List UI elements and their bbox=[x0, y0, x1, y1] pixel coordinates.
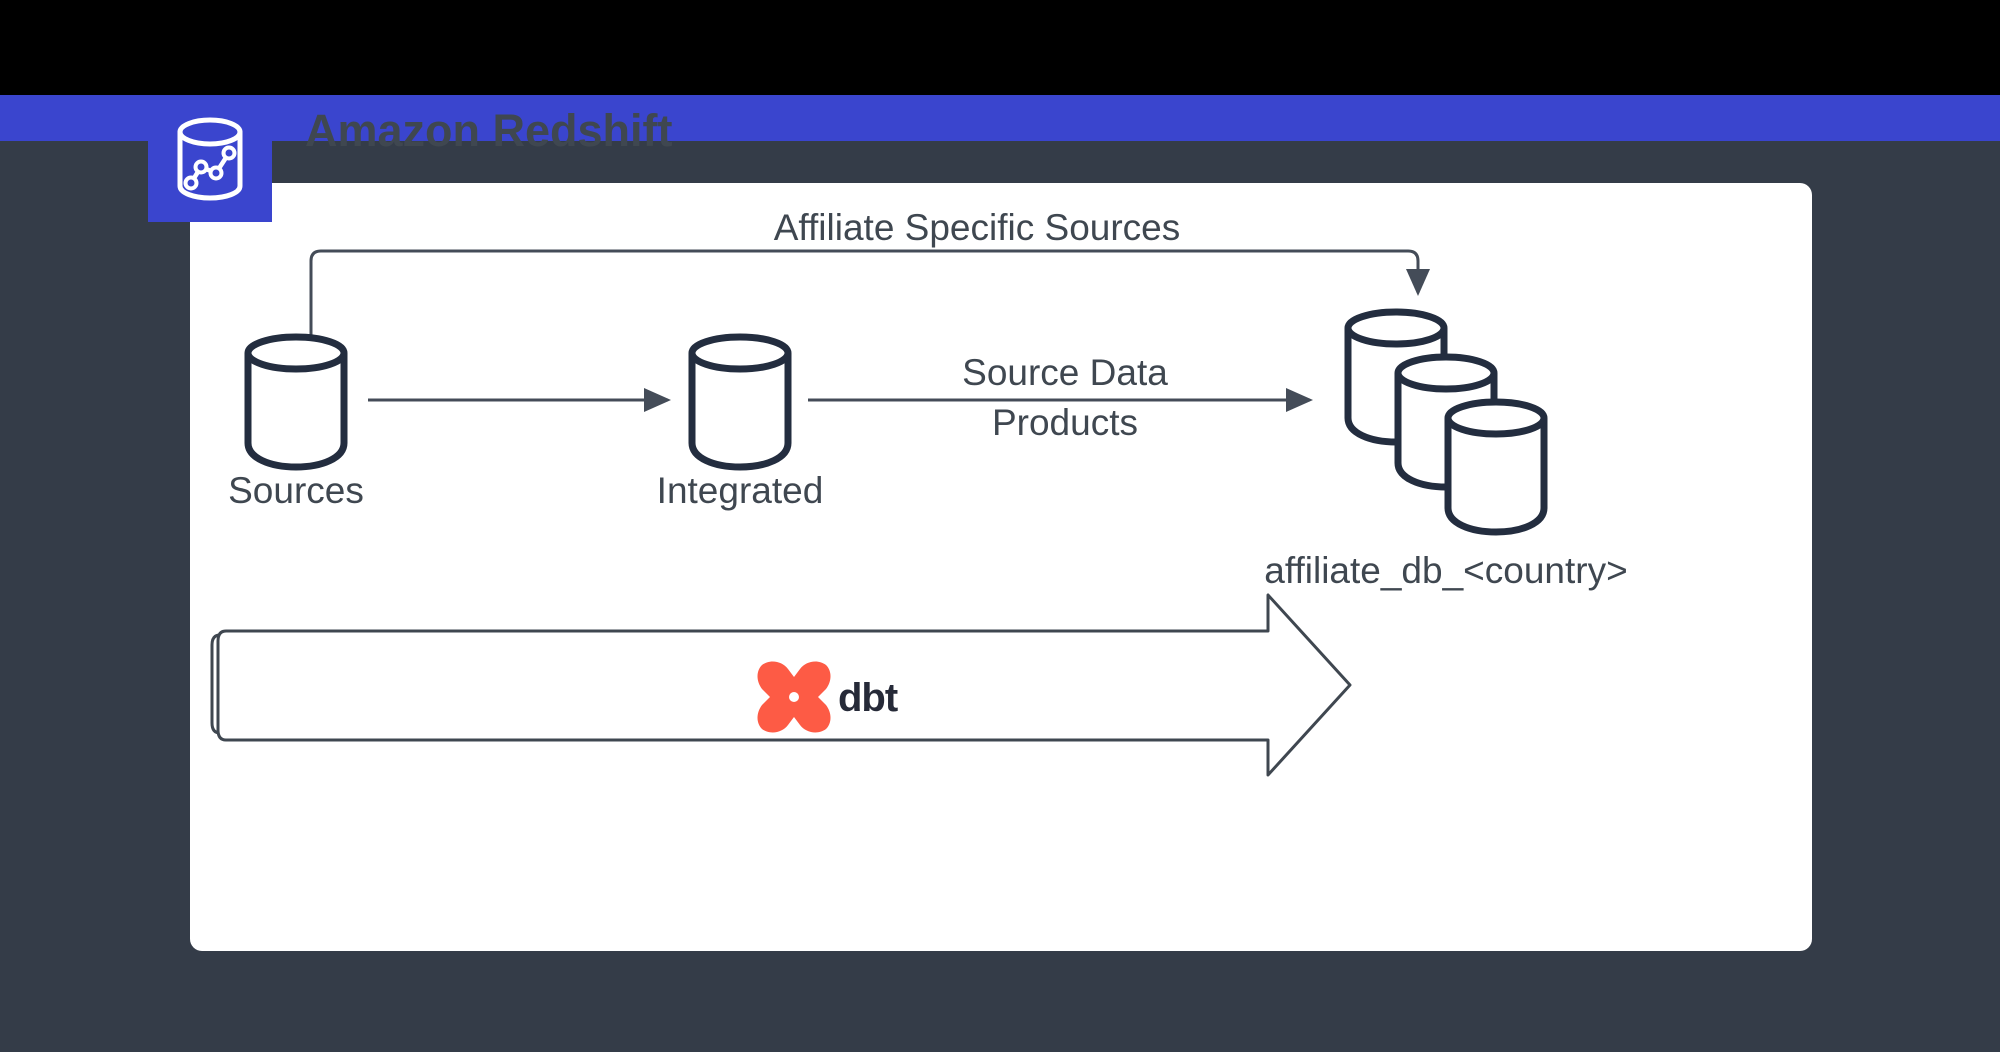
node-label-affiliate-db: affiliate_db_<country> bbox=[1264, 550, 1627, 591]
dbt-wordmark: dbt bbox=[838, 676, 898, 720]
edge-affiliate-specific-sources: Affiliate Specific Sources bbox=[311, 207, 1418, 383]
node-label-integrated: Integrated bbox=[657, 470, 824, 511]
edge-label-source-data-products-line1: Source Data bbox=[962, 352, 1168, 393]
node-affiliate-db-stack: affiliate_db_<country> bbox=[1264, 312, 1627, 591]
edge-label-source-data-products-line2: Products bbox=[992, 402, 1138, 443]
node-sources: Sources bbox=[228, 337, 364, 511]
edge-label-affiliate-specific-sources: Affiliate Specific Sources bbox=[774, 207, 1181, 248]
edge-source-data-products: Source Data Products bbox=[808, 352, 1310, 443]
screenshot-root: Amazon Redshift Affiliate Specific Sourc… bbox=[0, 0, 2000, 1052]
header-banner bbox=[0, 95, 2000, 141]
page-title: Amazon Redshift bbox=[305, 108, 673, 153]
node-integrated: Integrated bbox=[657, 337, 824, 511]
node-label-sources: Sources bbox=[228, 470, 364, 511]
architecture-diagram: Affiliate Specific Sources Source Data P… bbox=[190, 183, 1812, 951]
